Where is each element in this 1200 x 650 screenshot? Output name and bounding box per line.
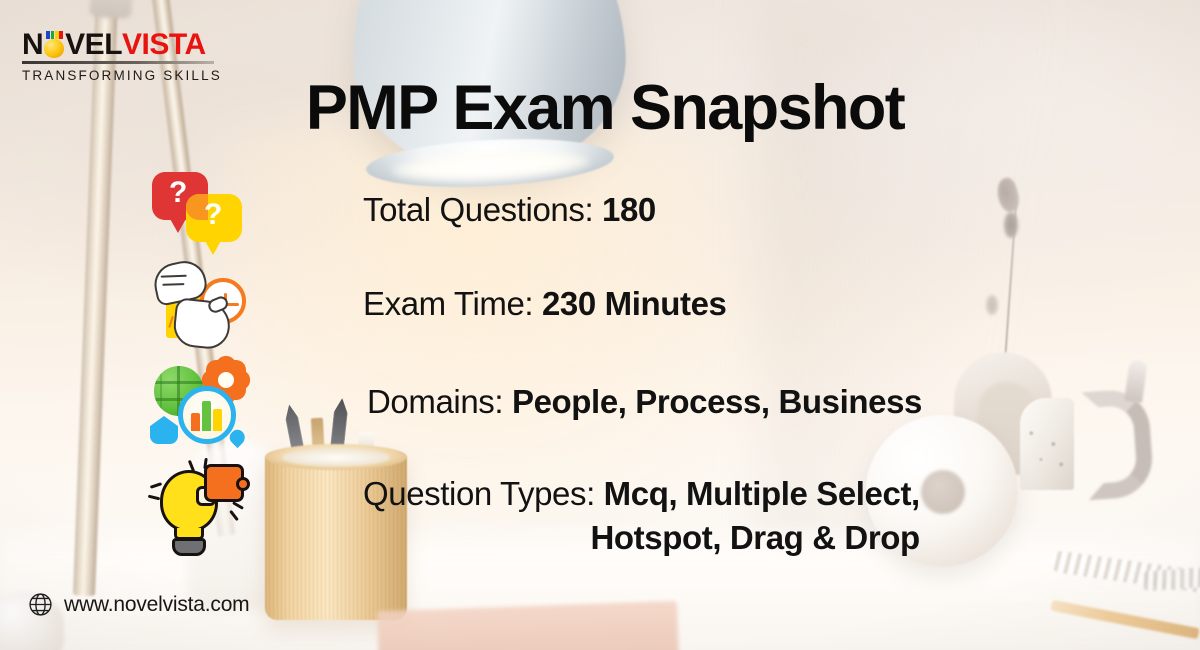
lightbulb-icon (43, 33, 65, 58)
fact-label-exam-time: Exam Time: (363, 285, 533, 322)
brand-logo-vel: VEL (65, 30, 122, 60)
fact-label-domains: Domains: (367, 383, 503, 420)
brand-logo-tagline: TRANSFORMING SKILLS (22, 68, 214, 83)
bulb-ray-3 (150, 482, 162, 489)
location-pin-icon (150, 416, 178, 444)
footer[interactable]: www.novelvista.com (28, 592, 249, 617)
brand-logo-wordmark: N VEL VISTA (22, 30, 214, 60)
globe-gear-chart-icon (148, 358, 252, 446)
fact-text-total-questions: Total Questions: 180 (363, 188, 656, 232)
fact-row-total-questions: ? ? Total Questions: 180 (148, 168, 656, 252)
lightbulb-puzzle-icon (148, 462, 248, 558)
logo-color-squares (46, 31, 63, 39)
bulb-ray-6 (229, 510, 239, 521)
question-mark-2: ? (204, 200, 222, 230)
fact-value-domains: People, Process, Business (512, 383, 922, 420)
magnifier-bar-chart-icon (178, 386, 236, 444)
hand-lower (172, 297, 233, 351)
question-bubbles-icon: ? ? (148, 168, 248, 252)
hand-clock-icon (148, 258, 248, 350)
bulb-base (172, 538, 206, 556)
brand-logo-divider (22, 61, 214, 64)
fact-label-question-types: Question Types: (363, 475, 595, 512)
bulb-ray-5 (232, 501, 244, 510)
question-mark-1: ? (169, 178, 187, 208)
brand-logo-n: N (22, 30, 43, 60)
globe-icon (28, 592, 53, 617)
fact-text-exam-time: Exam Time: 230 Minutes (363, 282, 726, 326)
brand-logo-vista: VISTA (122, 30, 206, 60)
fact-label-total-questions: Total Questions: (363, 191, 593, 228)
fact-row-exam-time: Exam Time: 230 Minutes (148, 258, 726, 350)
fact-text-domains: Domains: People, Process, Business (367, 380, 922, 424)
logo-bulb-glow (44, 39, 64, 58)
bulb-ray-4 (148, 495, 160, 501)
fact-row-question-types: Question Types: Mcq, Multiple Select, Ho… (148, 462, 920, 559)
fact-value-question-types-line2: Hotspot, Drag & Drop (363, 516, 920, 560)
brand-logo[interactable]: N VEL VISTA TRANSFORMING SKILLS (22, 30, 214, 83)
fact-row-domains: Domains: People, Process, Business (148, 358, 922, 446)
fact-text-question-types: Question Types: Mcq, Multiple Select, Ho… (363, 472, 920, 559)
fact-value-question-types-line1: Mcq, Multiple Select, (604, 475, 920, 512)
footer-url[interactable]: www.novelvista.com (64, 593, 249, 617)
puzzle-piece-icon (204, 464, 244, 502)
fact-value-exam-time: 230 Minutes (542, 285, 727, 322)
page-title: PMP Exam Snapshot (240, 77, 970, 140)
fact-value-total-questions: 180 (602, 191, 656, 228)
